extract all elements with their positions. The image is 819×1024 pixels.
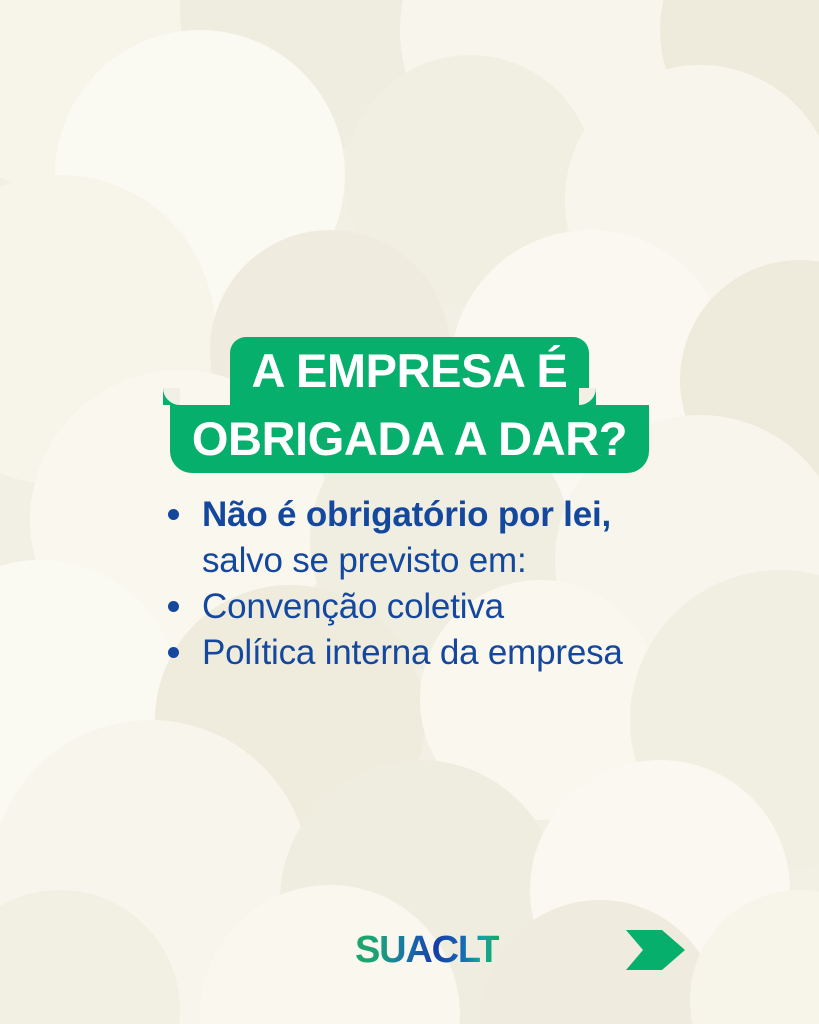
brand-logo-sua: SUA — [355, 929, 432, 971]
bullet-text: Política interna da empresa — [202, 630, 768, 676]
chevron-right-icon[interactable] — [626, 929, 686, 971]
bullet-text-sub: salvo se previsto em: — [202, 538, 768, 584]
title-line-1: A EMPRESA É — [230, 337, 590, 405]
bullet-list: Não é obrigatório por lei, salvo se prev… — [168, 492, 768, 676]
bullet-dot-icon — [168, 647, 179, 658]
poster-canvas: A EMPRESA É OBRIGADA A DAR? Não é obriga… — [0, 0, 819, 1024]
title-badge: A EMPRESA É OBRIGADA A DAR? — [0, 337, 819, 473]
brand-logo: SUACLT — [355, 927, 499, 973]
bullet-text-strong: Não é obrigatório por lei, — [202, 495, 611, 534]
brand-logo-clt: CLT — [432, 929, 499, 971]
badge-notch-left — [163, 388, 180, 405]
bullet-text: Convenção coletiva — [202, 584, 768, 630]
badge-notch-right — [579, 388, 596, 405]
list-item: Não é obrigatório por lei, salvo se prev… — [168, 492, 768, 584]
bullet-text: Não é obrigatório por lei, salvo se prev… — [202, 492, 768, 584]
bullet-dot-icon — [168, 601, 179, 612]
title-line-2: OBRIGADA A DAR? — [170, 405, 649, 473]
list-item: Convenção coletiva — [168, 584, 768, 630]
bullet-dot-icon — [168, 509, 179, 520]
list-item: Política interna da empresa — [168, 630, 768, 676]
